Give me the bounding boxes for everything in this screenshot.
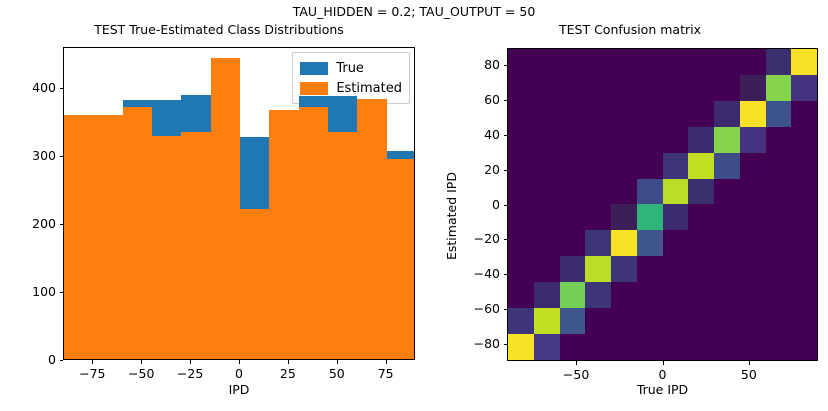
confusion-matrix-cell: [585, 75, 611, 101]
confusion-matrix-y-tick-label: 20: [454, 162, 500, 177]
confusion-matrix-cell: [534, 75, 560, 101]
confusion-matrix-cell: [585, 127, 611, 153]
confusion-matrix-cell: [688, 153, 714, 179]
confusion-matrix-cell: [740, 49, 766, 75]
confusion-matrix-cell: [740, 101, 766, 127]
confusion-matrix-cell: [740, 153, 766, 179]
histogram-x-tick: [92, 360, 93, 364]
confusion-matrix-cell: [766, 153, 792, 179]
confusion-matrix-cell: [766, 282, 792, 308]
confusion-matrix-x-tick: [749, 361, 750, 365]
confusion-matrix-cell: [508, 334, 534, 360]
confusion-matrix-cell: [688, 334, 714, 360]
histogram-y-tick: [60, 88, 64, 89]
confusion-matrix-cell: [560, 204, 586, 230]
histogram-x-tick: [288, 360, 289, 364]
histogram-x-axis-label: IPD: [63, 382, 415, 397]
histogram-y-tick-label: 100: [10, 284, 56, 299]
confusion-matrix-cell: [534, 127, 560, 153]
confusion-matrix-cell: [534, 308, 560, 334]
confusion-matrix-cell: [740, 75, 766, 101]
confusion-matrix-cell: [791, 153, 817, 179]
confusion-matrix-cell: [508, 282, 534, 308]
histogram-bar: [123, 107, 152, 359]
histogram-x-tick-label: 50: [312, 366, 362, 381]
confusion-matrix-cell: [663, 153, 689, 179]
confusion-matrix-cell: [663, 256, 689, 282]
confusion-matrix-cell: [585, 179, 611, 205]
confusion-matrix-cell: [508, 49, 534, 75]
confusion-matrix-cell: [688, 179, 714, 205]
histogram-bar: [181, 132, 210, 359]
confusion-matrix-cell: [740, 204, 766, 230]
confusion-matrix-y-tick-label: 40: [454, 127, 500, 142]
confusion-matrix-cell: [740, 256, 766, 282]
confusion-matrix-y-tick: [504, 135, 508, 136]
confusion-matrix-cell: [585, 282, 611, 308]
confusion-matrix-cell: [560, 127, 586, 153]
confusion-matrix-cell: [611, 308, 637, 334]
confusion-matrix-cell: [740, 282, 766, 308]
legend-label-true: True: [336, 62, 364, 75]
confusion-matrix-cell: [534, 49, 560, 75]
confusion-matrix-y-tick: [504, 239, 508, 240]
confusion-matrix-cell: [637, 153, 663, 179]
confusion-matrix-x-tick-label: 50: [724, 367, 774, 382]
histogram-y-tick: [60, 224, 64, 225]
confusion-matrix-y-tick: [504, 65, 508, 66]
confusion-matrix-cell: [637, 204, 663, 230]
histogram-bar: [64, 115, 93, 359]
confusion-matrix-cell: [766, 179, 792, 205]
histogram-y-tick: [60, 156, 64, 157]
histogram-x-tick-label: −25: [165, 366, 215, 381]
confusion-matrix-cell: [740, 127, 766, 153]
confusion-matrix-cell: [637, 256, 663, 282]
histogram-axes: True Estimated: [63, 47, 415, 360]
confusion-matrix-cell: [585, 153, 611, 179]
confusion-matrix-cell: [611, 204, 637, 230]
confusion-matrix-cell: [637, 230, 663, 256]
confusion-matrix-cell: [611, 49, 637, 75]
confusion-matrix-cell: [585, 308, 611, 334]
confusion-matrix-title: TEST Confusion matrix: [440, 22, 820, 37]
confusion-matrix-cell: [585, 204, 611, 230]
confusion-matrix-cell: [791, 230, 817, 256]
confusion-matrix-x-tick-label: 0: [638, 367, 688, 382]
confusion-matrix-cell: [688, 204, 714, 230]
confusion-matrix-cell: [714, 256, 740, 282]
confusion-matrix-cell: [534, 101, 560, 127]
figure-suptitle: TAU_HIDDEN = 0.2; TAU_OUTPUT = 50: [0, 4, 828, 19]
confusion-matrix-cell: [508, 127, 534, 153]
histogram-bar: [269, 110, 298, 359]
confusion-matrix-cell: [791, 101, 817, 127]
histogram-y-tick-label: 0: [10, 352, 56, 367]
confusion-matrix-cell: [637, 101, 663, 127]
confusion-matrix-cell: [560, 49, 586, 75]
confusion-matrix-cell: [560, 282, 586, 308]
confusion-matrix-cell: [766, 75, 792, 101]
confusion-matrix-cell: [611, 179, 637, 205]
confusion-matrix-cell: [791, 204, 817, 230]
confusion-matrix-y-tick-label: 80: [454, 57, 500, 72]
confusion-matrix-cell: [740, 230, 766, 256]
histogram-y-tick-label: 300: [10, 148, 56, 163]
confusion-matrix-cell: [663, 75, 689, 101]
confusion-matrix-cell: [508, 256, 534, 282]
confusion-matrix-cell: [688, 282, 714, 308]
confusion-matrix-y-tick-label: −60: [454, 301, 500, 316]
histogram-y-tick-label: 400: [10, 80, 56, 95]
confusion-matrix-cell: [508, 204, 534, 230]
confusion-matrix-cell: [534, 256, 560, 282]
confusion-matrix-cell: [534, 153, 560, 179]
confusion-matrix-cell: [766, 127, 792, 153]
confusion-matrix-y-tick-label: −80: [454, 336, 500, 351]
histogram-x-tick: [141, 360, 142, 364]
confusion-matrix-cell: [714, 179, 740, 205]
confusion-matrix-y-tick-label: −20: [454, 231, 500, 246]
histogram-x-tick: [190, 360, 191, 364]
confusion-matrix-cell: [611, 75, 637, 101]
confusion-matrix-cell: [611, 334, 637, 360]
confusion-matrix-cell: [714, 282, 740, 308]
confusion-matrix-axes: [507, 48, 818, 361]
histogram-bar: [328, 132, 357, 359]
legend-entry-true: True: [300, 58, 402, 78]
confusion-matrix-x-tick: [663, 361, 664, 365]
confusion-matrix-cell: [637, 49, 663, 75]
confusion-matrix-cell: [508, 75, 534, 101]
confusion-matrix-y-axis-label: Estimated IPD: [444, 172, 459, 260]
confusion-matrix-y-tick: [504, 309, 508, 310]
confusion-matrix-cell: [714, 230, 740, 256]
legend-label-estimated: Estimated: [336, 82, 402, 95]
confusion-matrix-y-tick: [504, 205, 508, 206]
histogram-y-tick-label: 200: [10, 216, 56, 231]
confusion-matrix-cell: [637, 308, 663, 334]
confusion-matrix-cell: [585, 230, 611, 256]
confusion-matrix-y-tick: [504, 344, 508, 345]
confusion-matrix-x-axis-label: True IPD: [507, 382, 818, 397]
confusion-matrix-cell: [508, 230, 534, 256]
confusion-matrix-cell: [508, 153, 534, 179]
confusion-matrix-cell: [663, 230, 689, 256]
confusion-matrix-cell: [714, 101, 740, 127]
confusion-matrix-cell: [663, 101, 689, 127]
confusion-matrix-cell: [611, 127, 637, 153]
histogram-title: TEST True-Estimated Class Distributions: [19, 22, 419, 37]
histogram-bar: [240, 209, 269, 359]
confusion-matrix-cell: [637, 127, 663, 153]
confusion-matrix-cell: [688, 49, 714, 75]
confusion-matrix-cell: [740, 334, 766, 360]
confusion-matrix-cell: [585, 101, 611, 127]
confusion-matrix-cell: [534, 204, 560, 230]
confusion-matrix-cell: [714, 308, 740, 334]
histogram-bar: [211, 58, 240, 359]
confusion-matrix-y-tick: [504, 274, 508, 275]
confusion-matrix-cell: [637, 75, 663, 101]
confusion-matrix-cell: [560, 308, 586, 334]
confusion-matrix-cell: [714, 75, 740, 101]
confusion-matrix-cell: [791, 334, 817, 360]
confusion-matrix-cell: [714, 204, 740, 230]
confusion-matrix-cell: [766, 101, 792, 127]
histogram-x-tick-label: −75: [67, 366, 117, 381]
confusion-matrix-cell: [688, 308, 714, 334]
confusion-matrix-cell: [611, 153, 637, 179]
confusion-matrix-cell: [688, 75, 714, 101]
histogram-x-tick: [239, 360, 240, 364]
histogram-bar: [152, 136, 181, 359]
confusion-matrix-cell: [766, 204, 792, 230]
histogram-x-tick-label: 75: [361, 366, 411, 381]
confusion-matrix-cell: [534, 179, 560, 205]
confusion-matrix-cell: [791, 127, 817, 153]
confusion-matrix-cell: [791, 282, 817, 308]
confusion-matrix-y-tick: [504, 170, 508, 171]
confusion-matrix-cell: [611, 256, 637, 282]
histogram-bar: [387, 159, 415, 359]
confusion-matrix-cell: [560, 75, 586, 101]
confusion-matrix-cell: [534, 334, 560, 360]
histogram-x-tick: [337, 360, 338, 364]
confusion-matrix-cell: [740, 179, 766, 205]
histogram-x-tick-label: 25: [263, 366, 313, 381]
confusion-matrix-cell: [508, 101, 534, 127]
confusion-matrix-cell: [663, 179, 689, 205]
histogram-x-tick: [386, 360, 387, 364]
confusion-matrix-cell: [714, 127, 740, 153]
confusion-matrix-cell: [637, 179, 663, 205]
confusion-matrix-cell: [560, 256, 586, 282]
histogram-x-tick-label: −50: [116, 366, 166, 381]
confusion-matrix-y-tick-label: 60: [454, 92, 500, 107]
confusion-matrix-cell: [714, 334, 740, 360]
histogram-bar: [357, 99, 386, 359]
confusion-matrix-y-tick-label: 0: [454, 197, 500, 212]
confusion-matrix-x-tick-label: −50: [551, 367, 601, 382]
confusion-matrix-cell: [560, 153, 586, 179]
confusion-matrix-cell: [611, 101, 637, 127]
confusion-matrix-cell: [534, 230, 560, 256]
confusion-matrix-cell: [611, 230, 637, 256]
confusion-matrix-cell: [534, 282, 560, 308]
confusion-matrix-cell: [508, 179, 534, 205]
confusion-matrix-x-tick: [576, 361, 577, 365]
confusion-matrix-cell: [766, 308, 792, 334]
histogram-bar: [93, 115, 122, 359]
histogram-x-tick-label: 0: [214, 366, 264, 381]
confusion-matrix-cell: [791, 256, 817, 282]
confusion-matrix-cell: [766, 334, 792, 360]
confusion-matrix-cell: [688, 127, 714, 153]
confusion-matrix-cell: [740, 308, 766, 334]
histogram-y-tick: [60, 360, 64, 361]
confusion-matrix-grid: [508, 49, 817, 360]
confusion-matrix-cell: [688, 230, 714, 256]
histogram-bar: [299, 107, 328, 359]
legend-swatch-true: [300, 62, 328, 75]
confusion-matrix-cell: [611, 282, 637, 308]
confusion-matrix-cell: [560, 230, 586, 256]
confusion-matrix-cell: [791, 49, 817, 75]
confusion-matrix-cell: [585, 256, 611, 282]
confusion-matrix-y-tick: [504, 100, 508, 101]
histogram-y-tick: [60, 292, 64, 293]
confusion-matrix-cell: [663, 282, 689, 308]
confusion-matrix-cell: [663, 49, 689, 75]
figure-canvas: TAU_HIDDEN = 0.2; TAU_OUTPUT = 50 TEST T…: [0, 0, 828, 411]
legend-swatch-estimated: [300, 82, 328, 95]
confusion-matrix-cell: [688, 256, 714, 282]
confusion-matrix-y-tick-label: −40: [454, 266, 500, 281]
confusion-matrix-cell: [637, 282, 663, 308]
confusion-matrix-cell: [791, 75, 817, 101]
confusion-matrix-cell: [508, 308, 534, 334]
confusion-matrix-cell: [791, 179, 817, 205]
confusion-matrix-cell: [766, 256, 792, 282]
confusion-matrix-cell: [663, 334, 689, 360]
confusion-matrix-cell: [637, 334, 663, 360]
confusion-matrix-cell: [714, 49, 740, 75]
confusion-matrix-cell: [714, 153, 740, 179]
confusion-matrix-cell: [688, 101, 714, 127]
confusion-matrix-cell: [663, 204, 689, 230]
confusion-matrix-cell: [791, 308, 817, 334]
confusion-matrix-cell: [560, 334, 586, 360]
confusion-matrix-cell: [560, 101, 586, 127]
confusion-matrix-cell: [663, 308, 689, 334]
confusion-matrix-cell: [560, 179, 586, 205]
confusion-matrix-cell: [766, 230, 792, 256]
confusion-matrix-cell: [766, 49, 792, 75]
confusion-matrix-cell: [585, 49, 611, 75]
confusion-matrix-cell: [585, 334, 611, 360]
confusion-matrix-cell: [663, 127, 689, 153]
